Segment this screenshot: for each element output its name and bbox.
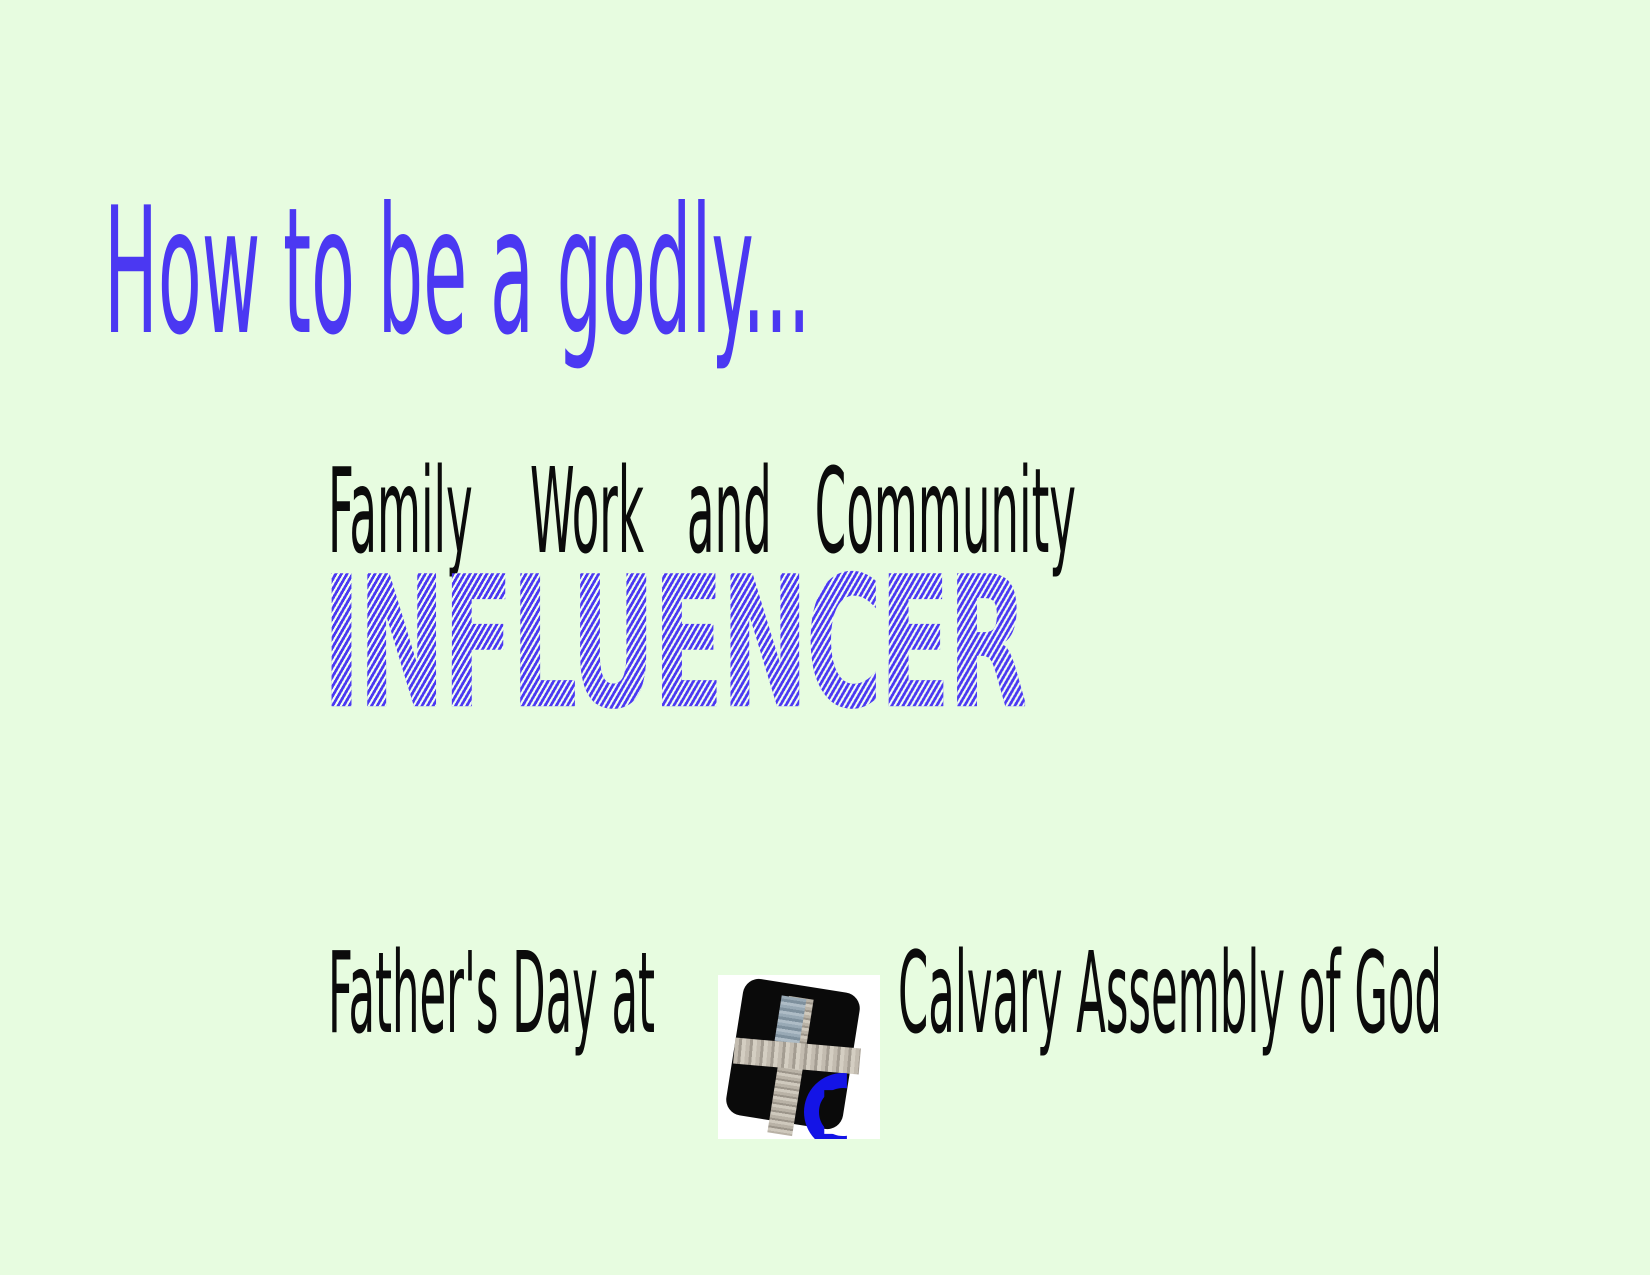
occasion-label: Father's Day at <box>328 938 655 1050</box>
keyword-influencer-hatched-layer: INFLUENCER <box>322 566 1025 721</box>
church-name-label: Calvary Assembly of God <box>898 938 1442 1050</box>
keyword-influencer: INFLUENCER INFLUENCER <box>322 566 1517 724</box>
page-title: How to be a godly... <box>104 185 811 360</box>
presentation-slide: How to be a godly... Family Work and Com… <box>0 0 1650 1275</box>
calvary-assembly-of-god-logo <box>718 975 880 1139</box>
